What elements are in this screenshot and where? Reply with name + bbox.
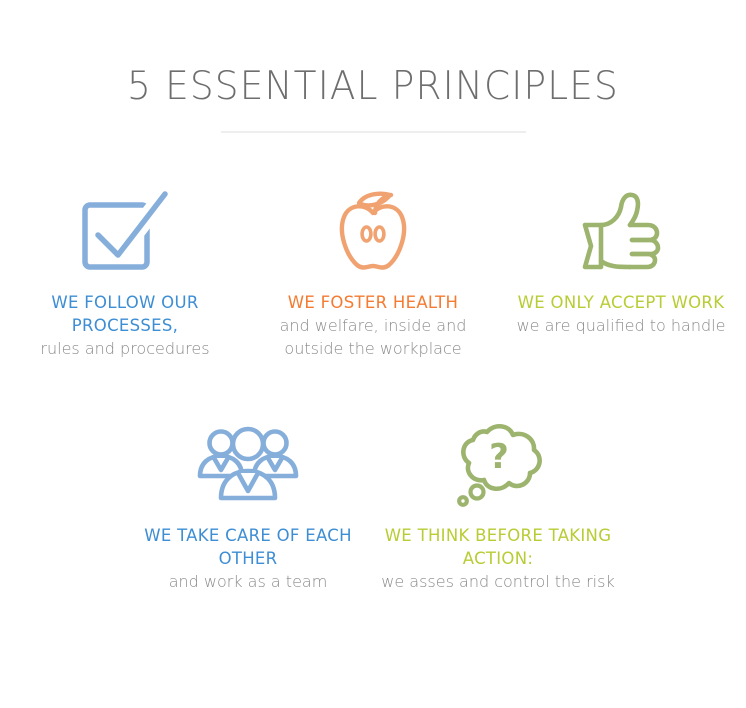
checkbox-check-icon	[77, 185, 173, 277]
principle-subtext: rules and procedures	[32, 337, 217, 360]
header: 5 ESSENTIAL PRINCIPLES	[0, 0, 746, 133]
thumbs-up-icon	[575, 185, 667, 277]
principles-row-top: WE FOLLOW OUR PROCESSES, rules and proce…	[0, 185, 746, 360]
principle-subtext: we asses and control the risk	[373, 570, 622, 593]
principle-card-processes: WE FOLLOW OUR PROCESSES, rules and proce…	[1, 185, 249, 360]
principle-card-health: WE FOSTER HEALTH and welfare, inside and…	[249, 185, 497, 360]
principle-subtext: and welfare, inside and outside the work…	[249, 314, 497, 360]
people-group-icon	[196, 418, 300, 510]
principle-card-team-care: WE TAKE CARE OF EACH OTHER and work as a…	[123, 418, 373, 593]
principle-heading: WE FOSTER HEALTH	[282, 291, 464, 314]
principle-subtext: we are qualified to handle	[509, 314, 734, 337]
principle-heading: WE THINK BEFORE TAKING ACTION:	[373, 524, 623, 570]
infographic-page: 5 ESSENTIAL PRINCIPLES WE FOLLOW OUR PRO…	[0, 0, 746, 708]
principle-heading: WE FOLLOW OUR PROCESSES,	[1, 291, 249, 337]
page-title: 5 ESSENTIAL PRINCIPLES	[15, 0, 731, 111]
thought-bubble-question-icon: ?	[451, 418, 545, 510]
principle-heading: WE ONLY ACCEPT WORK	[512, 291, 731, 314]
title-divider	[221, 131, 526, 133]
principle-card-think-first: ? WE THINK BEFORE TAKING ACTION: we asse…	[373, 418, 623, 593]
principle-heading: WE TAKE CARE OF EACH OTHER	[123, 524, 373, 570]
principle-card-accept-work: WE ONLY ACCEPT WORK we are qualified to …	[497, 185, 745, 337]
svg-text:?: ?	[489, 437, 509, 477]
principles-row-bottom: WE TAKE CARE OF EACH OTHER and work as a…	[0, 418, 746, 593]
principle-subtext: and work as a team	[161, 570, 336, 593]
apple-icon	[331, 185, 415, 277]
